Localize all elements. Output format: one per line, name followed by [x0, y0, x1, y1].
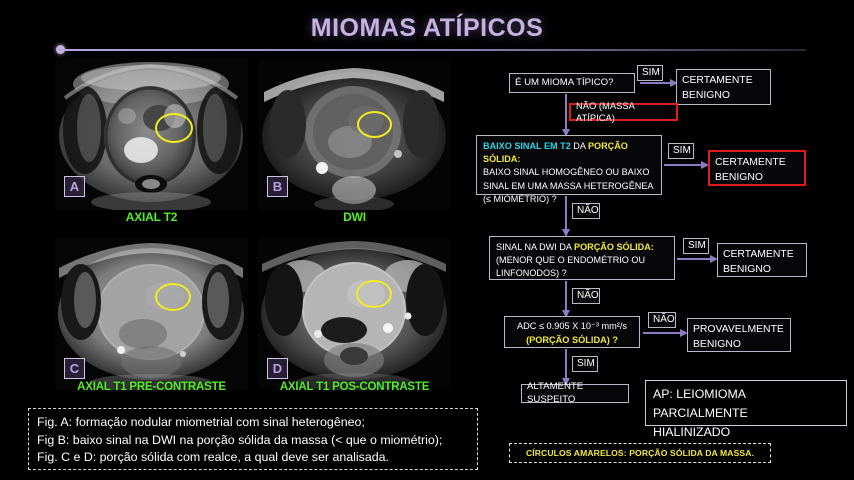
panel-letter-d: D: [267, 358, 288, 379]
flow-arrow-q1-yes: [640, 82, 671, 84]
roi-circle-solid-portion-b: [357, 111, 392, 138]
flow-label-q3-nao: NÃO: [572, 288, 600, 304]
flow-label-q1-sim: SIM: [637, 65, 663, 81]
flow-result-altamente-suspeito[interactable]: ALTAMENTE SUSPEITO: [521, 384, 629, 403]
flow-label-q3-sim: SIM: [683, 238, 709, 254]
flow-q2-line4: (≤ MIOMÉTRIO) ?: [483, 194, 557, 204]
flow-arrow-q4-no: [643, 332, 681, 334]
flow-q2-line3: SINAL EM UMA MASSA HETEROGÊNEA: [483, 181, 653, 191]
slide-root: MIOMAS ATÍPICOS: [0, 0, 854, 480]
flow-arrow-q2-yes: [664, 164, 702, 166]
roi-circle-solid-portion-a: [155, 113, 193, 143]
flow-arrow-q1-no: [565, 94, 567, 130]
figure-caption-line-2: Fig B: baixo sinal na DWI na porção sóli…: [37, 432, 469, 450]
flow-q4-highlight-solida: (PORÇÃO SÓLIDA) ?: [526, 335, 618, 345]
panel-letter-b: B: [267, 176, 288, 197]
flow-result-certamente-benigno-2[interactable]: CERTAMENTE BENIGNO: [708, 150, 806, 186]
figure-caption-line-3: Fig. C e D: porção sólida com realce, a …: [37, 449, 469, 467]
flow-q4-line1: ADC ≤ 0.905 X 10⁻³ mm²/s: [517, 321, 627, 331]
panel-caption-dwi: DWI: [258, 210, 451, 224]
roi-circle-solid-portion-c: [155, 283, 191, 311]
flow-q2-highlight-t2: BAIXO SINAL EM T2: [483, 141, 571, 151]
flow-label-q4-sim: SIM: [572, 356, 598, 372]
panel-caption-axial-t2: AXIAL T2: [55, 210, 248, 224]
panel-caption-axial-t1-pos: AXIAL T1 POS-CONTRASTE: [258, 381, 451, 393]
page-title: MIOMAS ATÍPICOS: [0, 14, 854, 43]
flow-label-q2-nao: NÃO: [572, 203, 600, 219]
panel-letter-a: A: [64, 176, 85, 197]
flow-q2-da: DA: [571, 141, 588, 151]
flow-result-certamente-benigno-1[interactable]: CERTAMENTE BENIGNO: [676, 69, 771, 105]
flow-arrow-q3-no: [565, 281, 567, 311]
flow-result-provavelmente-benigno[interactable]: PROVAVELMENTE BENIGNO: [687, 318, 791, 352]
flow-q3-line3: LINFONODOS) ?: [496, 268, 567, 278]
flow-question-3[interactable]: SINAL NA DWI DA PORÇÃO SÓLIDA: (MENOR QU…: [489, 236, 675, 280]
flow-label-q2-sim: SIM: [668, 143, 694, 159]
flow-q3-line1a: SINAL NA DWI DA: [496, 242, 574, 252]
figure-caption-line-1: Fig. A: formação nodular miometrial com …: [37, 414, 469, 432]
flow-q2-line2: BAIXO SINAL HOMOGÊNEO OU BAIXO: [483, 167, 649, 177]
flow-question-2[interactable]: BAIXO SINAL EM T2 DA PORÇÃO SÓLIDA: BAIX…: [476, 135, 662, 195]
flow-result-certamente-benigno-3[interactable]: CERTAMENTE BENIGNO: [717, 243, 807, 277]
flow-label-q1-nao: NÃO (MASSA ATÍPICA): [569, 103, 678, 121]
panel-caption-axial-t1-pre: AXIAL T1 PRE-CONTRASTE: [55, 381, 248, 393]
flow-arrow-q3-yes: [677, 258, 711, 260]
panel-letter-c: C: [64, 358, 85, 379]
legend-yellow-circles: CÍRCULOS AMARELOS: PORÇÃO SÓLIDA DA MASS…: [509, 443, 771, 463]
pathology-result-note: AP: LEIOMIOMA PARCIALMENTE HIALINIZADO: [645, 380, 847, 426]
flow-label-q4-nao: NÃO: [648, 312, 676, 328]
flow-arrow-q4-sim: [565, 349, 567, 379]
flow-question-4-adc[interactable]: ADC ≤ 0.905 X 10⁻³ mm²/s (PORÇÃO SÓLIDA)…: [504, 316, 640, 348]
flow-q3-highlight-solida: PORÇÃO SÓLIDA:: [574, 242, 654, 252]
title-rule: [58, 49, 806, 51]
flow-question-1[interactable]: É UM MIOMA TÍPICO?: [509, 73, 635, 93]
roi-circle-solid-portion-d: [356, 280, 392, 308]
figure-caption-box: Fig. A: formação nodular miometrial com …: [28, 408, 478, 470]
legend-text: CÍRCULOS AMARELOS: PORÇÃO SÓLIDA DA MASS…: [526, 448, 754, 458]
flow-arrow-q2-no: [565, 196, 567, 230]
flow-q3-line2: (MENOR QUE O ENDOMÉTRIO OU: [496, 255, 645, 265]
